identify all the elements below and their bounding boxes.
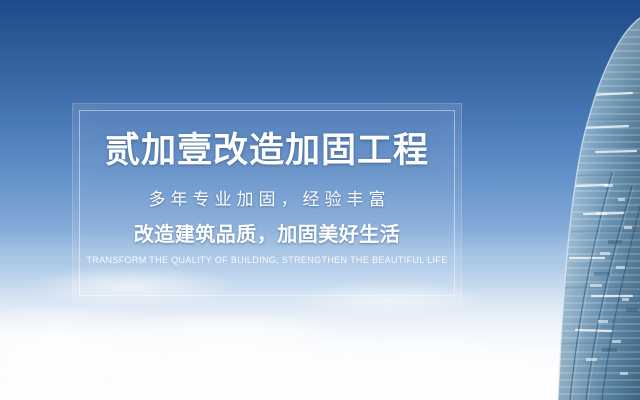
- hero-banner: 贰加壹改造加固工程 多年专业加固，经验丰富 改造建筑品质，加固美好生活 TRAN…: [0, 0, 640, 400]
- cloud-wisp-center: [40, 300, 400, 360]
- content-panel: 贰加壹改造加固工程 多年专业加固，经验丰富 改造建筑品质，加固美好生活 TRAN…: [72, 103, 462, 303]
- panel-content: 贰加壹改造加固工程 多年专业加固，经验丰富 改造建筑品质，加固美好生活 TRAN…: [72, 103, 462, 303]
- english-tagline: TRANSFORM THE QUALITY OF BUILDING, STREN…: [86, 256, 447, 265]
- headline-title: 贰加壹改造加固工程: [105, 133, 429, 168]
- slogan-text: 改造建筑品质，加固美好生活: [134, 225, 401, 245]
- skyscraper-icon: [500, 0, 640, 400]
- skyscraper-image: [500, 0, 640, 400]
- subheadline-text: 多年专业加固，经验丰富: [144, 191, 391, 208]
